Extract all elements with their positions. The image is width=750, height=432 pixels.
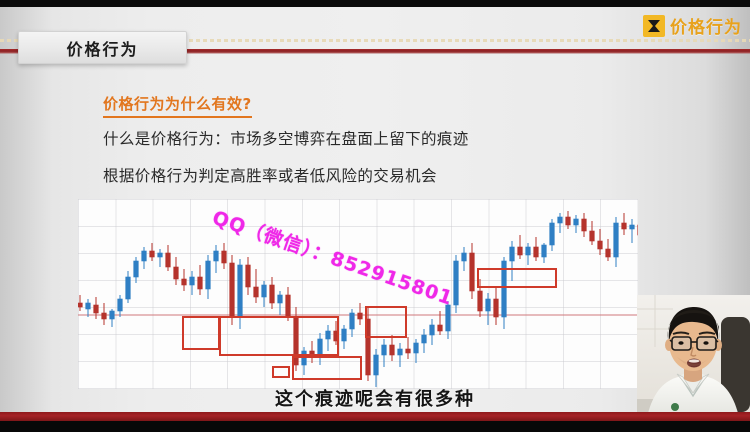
slide-title-tab: 价格行为 (18, 31, 187, 64)
top-letterbox-bar (0, 0, 750, 7)
content-line-2: 根据价格行为判定高胜率或者低风险的交易机会 (103, 164, 437, 186)
bottom-red-bar (0, 412, 750, 421)
page-title: 价格行为 (66, 36, 138, 60)
brand-logo: 价格行为 (643, 13, 742, 38)
content-line-1: 什么是价格行为：市场多空博弈在盘面上留下的痕迹 (103, 127, 469, 149)
content-headline: 价格行为为什么有效? (103, 93, 252, 118)
presenter-webcam (637, 295, 750, 428)
candlestick-chart (78, 199, 638, 389)
slide-canvas: 价格行为 价格行为 价格行为为什么有效? 什么是价格行为：市场多空博弈在盘面上留… (0, 7, 750, 413)
brand-name: 价格行为 (670, 13, 742, 38)
video-player-frame: 价格行为 价格行为 价格行为为什么有效? 什么是价格行为：市场多空博弈在盘面上留… (0, 0, 750, 432)
chart-plot-area (78, 199, 638, 389)
bottom-letterbox-bar (0, 421, 750, 432)
hourglass-logo-icon (643, 15, 665, 37)
